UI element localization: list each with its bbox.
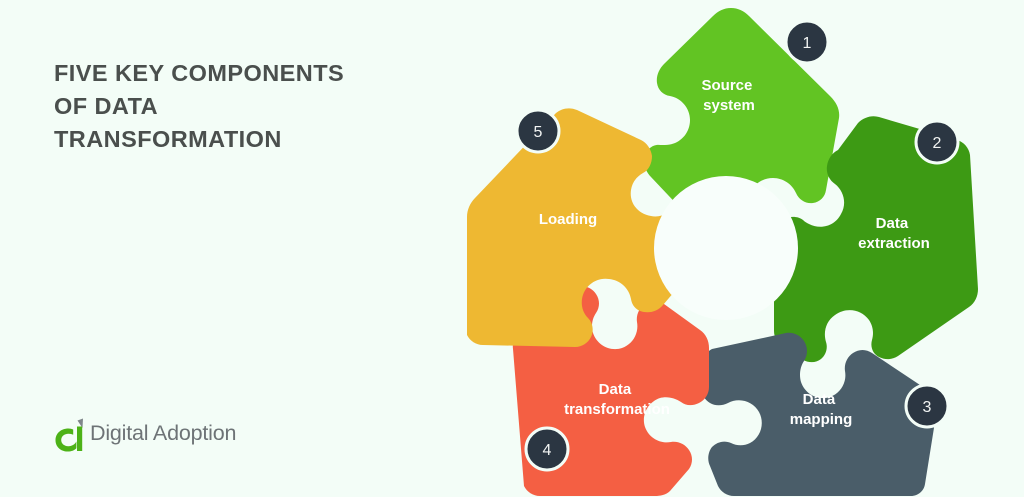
infographic-canvas: FIVE KEY COMPONENTS OF DATA TRANSFORMATI… bbox=[0, 0, 1024, 497]
puzzle-piece-data-mapping[interactable]: Data mapping 3 bbox=[701, 333, 948, 496]
puzzle-badge-number-5: 5 bbox=[534, 124, 543, 141]
puzzle-badge-number-1: 1 bbox=[803, 35, 812, 52]
puzzle-badge-5: 5 bbox=[517, 110, 559, 152]
puzzle-diagram: Source system 1 Data extraction 2 bbox=[0, 0, 1024, 497]
puzzle-badge-1: 1 bbox=[786, 21, 828, 63]
puzzle-badge-2: 2 bbox=[916, 121, 958, 163]
puzzle-badge-number-4: 4 bbox=[543, 442, 552, 459]
puzzle-label-5: Loading bbox=[539, 211, 597, 228]
puzzle-center-hole bbox=[654, 176, 798, 320]
puzzle-badge-number-3: 3 bbox=[923, 399, 932, 416]
puzzle-badge-4: 4 bbox=[526, 428, 568, 470]
puzzle-badge-number-2: 2 bbox=[933, 135, 942, 152]
puzzle-badge-3: 3 bbox=[906, 385, 948, 427]
